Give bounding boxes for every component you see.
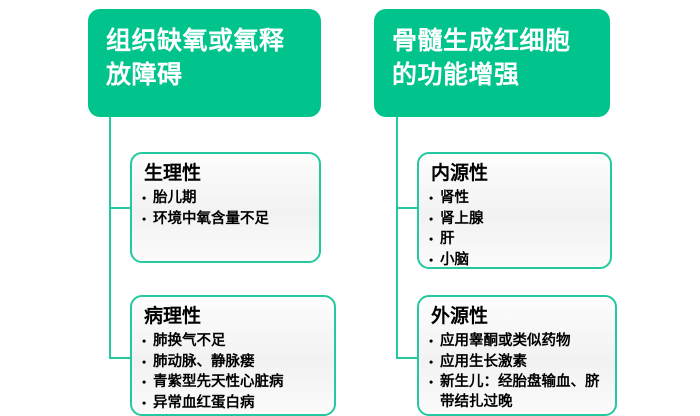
root-node-left[interactable]: 组织缺氧或氧释 放障碍 xyxy=(88,9,321,117)
node-endogenous[interactable]: 内源性 肾性 肾上腺 肝 小脑 xyxy=(417,152,612,269)
list-item: 应用生长激素 xyxy=(429,353,607,373)
node-endogenous-list: 肾性 肾上腺 肝 小脑 xyxy=(429,189,602,270)
list-item: 新生儿：经胎盘输血、脐 带结扎过晚 xyxy=(429,373,607,412)
list-item: 肾上腺 xyxy=(429,210,602,230)
node-exogenous-title: 外源性 xyxy=(431,304,607,329)
list-item: 应用睾酮或类似药物 xyxy=(429,332,607,352)
list-item: 肺动脉、静脉瘘 xyxy=(142,353,326,373)
connector-right-branch-1 xyxy=(396,207,419,209)
node-pathological-title: 病理性 xyxy=(144,304,326,329)
node-physiological-list: 胎儿期 环境中氧含量不足 xyxy=(142,189,311,229)
connector-left-trunk xyxy=(109,117,111,359)
list-item: 环境中氧含量不足 xyxy=(142,210,311,230)
root-node-left-label: 组织缺氧或氧释 放障碍 xyxy=(106,25,321,93)
list-item: 肝 xyxy=(429,230,602,250)
root-node-right[interactable]: 骨髓生成红细胞 的功能增强 xyxy=(374,9,610,117)
node-physiological[interactable]: 生理性 胎儿期 环境中氧含量不足 xyxy=(130,152,321,263)
node-physiological-title: 生理性 xyxy=(144,161,311,186)
connector-left-branch-1 xyxy=(109,207,132,209)
connector-left-branch-2 xyxy=(109,357,132,359)
list-item: 胎儿期 xyxy=(142,189,311,209)
connector-right-branch-2 xyxy=(396,357,419,359)
node-pathological[interactable]: 病理性 肺换气不足 肺动脉、静脉瘘 青紫型先天性心脏病 异常血红蛋白病 xyxy=(130,295,336,416)
connector-right-trunk xyxy=(396,117,398,359)
node-pathological-list: 肺换气不足 肺动脉、静脉瘘 青紫型先天性心脏病 异常血红蛋白病 xyxy=(142,332,326,413)
list-item: 异常血红蛋白病 xyxy=(142,394,326,414)
list-item: 肾性 xyxy=(429,189,602,209)
node-exogenous[interactable]: 外源性 应用睾酮或类似药物 应用生长激素 新生儿：经胎盘输血、脐 带结扎过晚 xyxy=(417,295,617,416)
list-item: 肺换气不足 xyxy=(142,332,326,352)
list-item: 小脑 xyxy=(429,251,602,271)
diagram-canvas: 组织缺氧或氧释 放障碍 生理性 胎儿期 环境中氧含量不足 病理性 肺换气不足 肺… xyxy=(0,0,700,416)
root-node-right-label: 骨髓生成红细胞 的功能增强 xyxy=(392,25,610,93)
node-exogenous-list: 应用睾酮或类似药物 应用生长激素 新生儿：经胎盘输血、脐 带结扎过晚 xyxy=(429,332,607,412)
list-item: 青紫型先天性心脏病 xyxy=(142,373,326,393)
node-endogenous-title: 内源性 xyxy=(431,161,602,186)
